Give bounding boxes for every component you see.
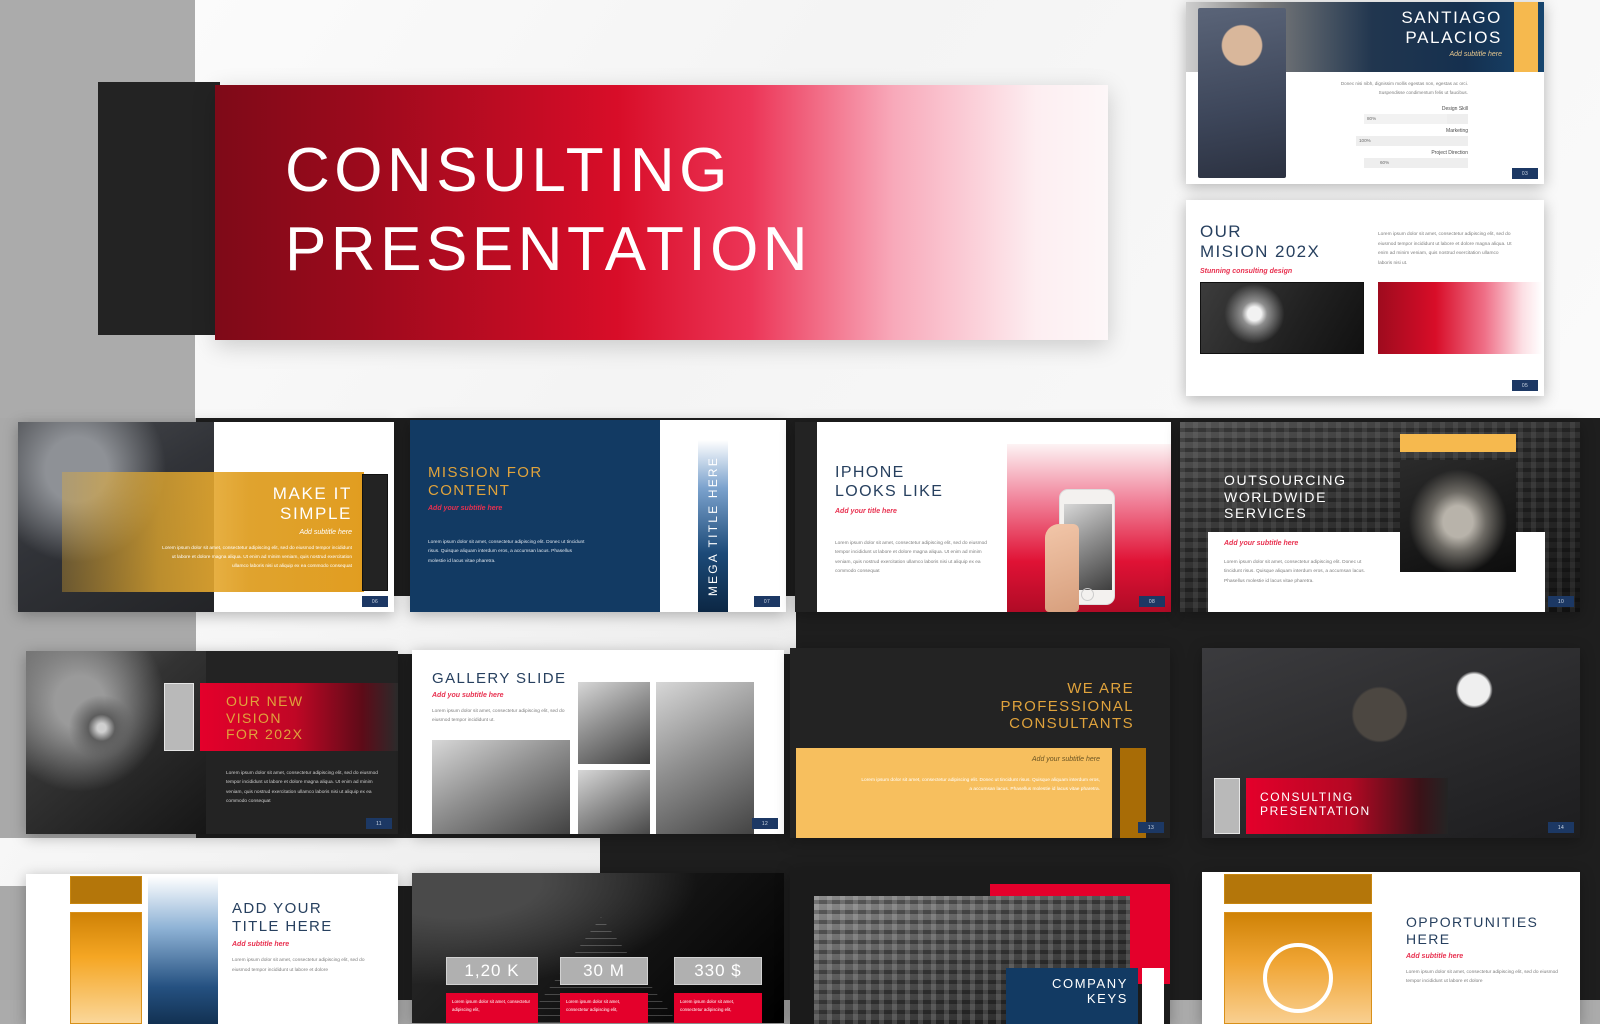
vision-title-band: OUR NEW VISION FOR 202X	[200, 683, 398, 751]
add-title-brown-block	[70, 876, 142, 904]
mission-content-title-line1: MISSION FOR	[428, 464, 543, 482]
profile-subtitle: Add subtitle here	[1401, 51, 1502, 58]
page-badge: 05	[1512, 380, 1538, 391]
outsourcing-accent-bar	[1400, 434, 1516, 452]
stat-1-caption: Lorem ipsum dolor sit amet, consectetur …	[560, 993, 648, 1019]
iphone-subtitle: Add your title here	[835, 508, 943, 515]
slide-mision[interactable]: OUR MISION 202X Stunning consulting desi…	[1186, 200, 1544, 396]
opportunities-text: OPPORTUNITIES HERE Add subtitle here Lor…	[1406, 914, 1558, 987]
outsourcing-subtitle: Add your subtitle here	[1224, 540, 1298, 547]
stat-2-caption-box: Lorem ipsum dolor sit amet, consectetur …	[674, 993, 762, 1023]
stat-0-caption: Lorem ipsum dolor sit amet, consectetur …	[446, 993, 538, 1019]
hero-title-line2: PRESENTATION	[285, 210, 812, 289]
add-title-subtitle: Add subtitle here	[232, 941, 380, 948]
consulting-desk-title-line1: CONSULTING	[1260, 790, 1371, 804]
slide-stats[interactable]: 1,20 K Lorem ipsum dolor sit amet, conse…	[412, 873, 784, 1023]
make-simple-dark-bar	[362, 474, 388, 591]
mission-content-body: Lorem ipsum dolor sit amet, consectetur …	[428, 538, 586, 566]
skill-1-value: 100%	[1359, 138, 1371, 143]
consultants-title-line1: WE ARE	[1001, 680, 1135, 698]
skill-0-value: 80%	[1367, 116, 1376, 121]
stat-1-caption-box: Lorem ipsum dolor sit amet, consectetur …	[560, 993, 648, 1023]
skill-2: Project Direction 60%	[1364, 150, 1468, 168]
vision-title: OUR NEW VISION FOR 202X	[226, 693, 303, 743]
page-badge: 07	[754, 596, 780, 607]
profile-accent-bar	[1514, 2, 1538, 72]
mision-image-bulb	[1200, 282, 1364, 354]
consultants-title: WE ARE PROFESSIONAL CONSULTANTS	[1001, 680, 1135, 733]
iphone-photo	[1007, 444, 1171, 612]
background-dark-block	[98, 82, 220, 335]
vision-title-line2: VISION	[226, 710, 303, 727]
vision-title-line1: OUR NEW	[226, 693, 303, 710]
circle-icon	[1263, 943, 1333, 1013]
mision-body: Lorem ipsum dolor sit amet, consectetur …	[1378, 230, 1512, 268]
slide-iphone[interactable]: IPHONE LOOKS LIKE Add your title here Lo…	[795, 422, 1171, 612]
iphone-body: Lorem ipsum dolor sit amet, consectetur …	[835, 539, 987, 576]
outsourcing-title: OUTSOURCING WORLDWIDE SERVICES	[1224, 472, 1347, 522]
stat-2-value-box: 330 $	[674, 957, 762, 985]
company-keys-navy-block: COMPANY KEYS	[1006, 968, 1138, 1024]
mission-content-title-line2: CONTENT	[428, 482, 543, 500]
hero-banner: CONSULTING PRESENTATION	[215, 85, 1108, 340]
hero-title-line1: CONSULTING	[285, 131, 812, 210]
gallery-title-block: GALLERY SLIDE Add you subtitle here Lore…	[432, 670, 570, 725]
skill-1-bar: 100%	[1356, 136, 1468, 146]
skill-2-value: 60%	[1380, 160, 1389, 165]
slide-profile[interactable]: SANTIAGO PALACIOS Add subtitle here Done…	[1186, 2, 1544, 184]
skill-2-bar: 60%	[1364, 158, 1468, 168]
mision-subtitle: Stunning consulting design	[1200, 268, 1320, 275]
page-badge: 13	[1138, 822, 1164, 833]
page-badge: 12	[752, 818, 778, 829]
company-keys-title: COMPANY KEYS	[1052, 976, 1128, 1007]
stat-0-value: 1,20 K	[464, 961, 519, 981]
stat-0-caption-box: Lorem ipsum dolor sit amet, consectetur …	[446, 993, 538, 1023]
mision-image-gradient	[1378, 282, 1542, 354]
slide-make-simple[interactable]: MAKE IT SIMPLE Add subtitle here Lorem i…	[18, 422, 394, 612]
gallery-image-2	[578, 682, 650, 764]
gallery-image-3	[578, 770, 650, 834]
consulting-desk-band: CONSULTING PRESENTATION	[1246, 778, 1448, 834]
iphone-hand	[1045, 524, 1079, 612]
iphone-home-button	[1081, 588, 1094, 601]
gallery-body: Lorem ipsum dolor sit amet, consectetur …	[432, 707, 570, 726]
skill-0-fill	[1364, 114, 1447, 124]
gallery-image-1	[432, 740, 570, 834]
opportunities-title-line1: OPPORTUNITIES	[1406, 914, 1558, 931]
consultants-subtitle: Add your subtitle here	[1032, 756, 1100, 763]
slide-company-keys[interactable]: COMPANY KEYS	[790, 868, 1170, 1024]
consultants-title-line2: PROFESSIONAL	[1001, 698, 1135, 716]
gallery-title: GALLERY SLIDE	[432, 670, 570, 688]
page-badge: 08	[1139, 596, 1165, 607]
page-badge: 06	[362, 596, 388, 607]
add-title-line1: ADD YOUR	[232, 900, 380, 918]
slide-opportunities[interactable]: OPPORTUNITIES HERE Add subtitle here Lor…	[1202, 872, 1580, 1024]
opportunities-orange-block	[1224, 912, 1372, 1024]
slide-vision[interactable]: OUR NEW VISION FOR 202X Lorem ipsum dolo…	[26, 651, 398, 834]
slide-gallery[interactable]: GALLERY SLIDE Add you subtitle here Lore…	[412, 650, 784, 834]
make-simple-overlay: MAKE IT SIMPLE Add subtitle here Lorem i…	[62, 472, 364, 592]
consulting-desk-title: CONSULTING PRESENTATION	[1260, 790, 1371, 818]
stat-1-value-box: 30 M	[560, 957, 648, 985]
skill-1: Marketing 100%	[1356, 128, 1468, 146]
mission-content-subtitle: Add your subtitle here	[428, 505, 543, 512]
mision-title-line1: OUR	[1200, 222, 1320, 242]
gallery-image-4	[656, 682, 754, 834]
slide-consultants[interactable]: WE ARE PROFESSIONAL CONSULTANTS Add your…	[790, 648, 1170, 838]
iphone-title-line1: IPHONE	[835, 464, 943, 483]
slide-mission-content[interactable]: MISSION FOR CONTENT Add your subtitle he…	[410, 420, 786, 612]
consulting-desk-title-line2: PRESENTATION	[1260, 804, 1371, 818]
add-title-body: Lorem ipsum dolor sit amet, consectetur …	[232, 956, 380, 975]
profile-name: SANTIAGO PALACIOS Add subtitle here	[1401, 8, 1502, 58]
make-simple-title-line1: MAKE IT	[273, 484, 352, 504]
stat-0-value-box: 1,20 K	[446, 957, 538, 985]
add-title-line2: TITLE HERE	[232, 918, 380, 936]
outsourcing-title-line3: SERVICES	[1224, 505, 1347, 522]
skill-0-label: Design Skill	[1364, 106, 1468, 112]
opportunities-body: Lorem ipsum dolor sit amet, consectetur …	[1406, 968, 1558, 987]
outsourcing-title-line2: WORLDWIDE	[1224, 489, 1347, 506]
stat-2-value: 330 $	[694, 961, 742, 981]
profile-name-line1: SANTIAGO	[1401, 8, 1502, 28]
profile-name-line2: PALACIOS	[1401, 28, 1502, 48]
skill-1-label: Marketing	[1356, 128, 1468, 134]
outsourcing-photo-front	[1400, 460, 1516, 572]
mega-title-text: MEGA TITLE HERE	[706, 456, 720, 596]
profile-photo	[1198, 8, 1286, 178]
profile-intro: Donec nisi nibh, dignissim mollis egesta…	[1336, 80, 1468, 97]
consulting-desk-gray-bar	[1214, 778, 1240, 834]
stat-2-caption: Lorem ipsum dolor sit amet, consectetur …	[674, 993, 762, 1019]
make-simple-title: MAKE IT SIMPLE Add subtitle here	[273, 484, 352, 536]
add-title-text: ADD YOUR TITLE HERE Add subtitle here Lo…	[232, 900, 380, 975]
screenshot-stage: CONSULTING PRESENTATION SANTIAGO PALACIO…	[0, 0, 1600, 1000]
company-keys-white-bar	[1142, 968, 1164, 1024]
iphone-title-line2: LOOKS LIKE	[835, 483, 943, 502]
consultants-title-line3: CONSULTANTS	[1001, 715, 1135, 733]
stat-1-value: 30 M	[583, 961, 625, 981]
iphone-title: IPHONE LOOKS LIKE Add your title here	[835, 464, 943, 515]
gallery-subtitle: Add you subtitle here	[432, 692, 570, 699]
opportunities-title-line2: HERE	[1406, 931, 1558, 948]
slide-add-title[interactable]: ADD YOUR TITLE HERE Add subtitle here Lo…	[26, 874, 398, 1024]
mission-content-title: MISSION FOR CONTENT Add your subtitle he…	[428, 464, 543, 512]
slide-outsourcing[interactable]: OUTSOURCING WORLDWIDE SERVICES Add your …	[1180, 422, 1580, 612]
vision-body: Lorem ipsum dolor sit amet, consectetur …	[226, 769, 378, 806]
mision-title: OUR MISION 202X Stunning consulting desi…	[1200, 222, 1320, 275]
vision-title-line3: FOR 202X	[226, 726, 303, 743]
skill-0: Design Skill 80%	[1364, 106, 1468, 124]
iphone-left-bar	[795, 422, 817, 612]
add-title-orange-block	[70, 912, 142, 1024]
outsourcing-body: Lorem ipsum dolor sit amet, consectetur …	[1224, 558, 1372, 586]
opportunities-subtitle: Add subtitle here	[1406, 953, 1558, 960]
opportunities-brown-block	[1224, 874, 1372, 904]
make-simple-title-line2: SIMPLE	[273, 504, 352, 524]
add-title-blue-block	[148, 876, 218, 1024]
mision-title-line2: MISION 202X	[1200, 242, 1320, 262]
page-badge: 10	[1548, 596, 1574, 607]
company-keys-title-line1: COMPANY	[1052, 976, 1128, 991]
page-badge: 11	[366, 818, 392, 829]
consultants-body: Lorem ipsum dolor sit amet, consectetur …	[858, 776, 1100, 795]
company-keys-title-line2: KEYS	[1052, 991, 1128, 1006]
skill-0-bar: 80%	[1364, 114, 1468, 124]
mega-title-bar: MEGA TITLE HERE	[698, 440, 728, 612]
make-simple-subtitle: Add subtitle here	[273, 529, 352, 536]
make-simple-body: Lorem ipsum dolor sit amet, consectetur …	[162, 545, 352, 572]
mission-content-panel: MISSION FOR CONTENT Add your subtitle he…	[410, 420, 660, 612]
page-badge: 14	[1548, 822, 1574, 833]
vision-gray-bar	[164, 683, 194, 751]
skill-2-label: Project Direction	[1364, 150, 1468, 156]
outsourcing-title-line1: OUTSOURCING	[1224, 472, 1347, 489]
page-badge: 03	[1512, 168, 1538, 179]
slide-consulting-desk[interactable]: CONSULTING PRESENTATION 14	[1202, 648, 1580, 838]
consultants-gold-panel: Add your subtitle here Lorem ipsum dolor…	[796, 748, 1112, 838]
hero-title: CONSULTING PRESENTATION	[285, 131, 812, 290]
